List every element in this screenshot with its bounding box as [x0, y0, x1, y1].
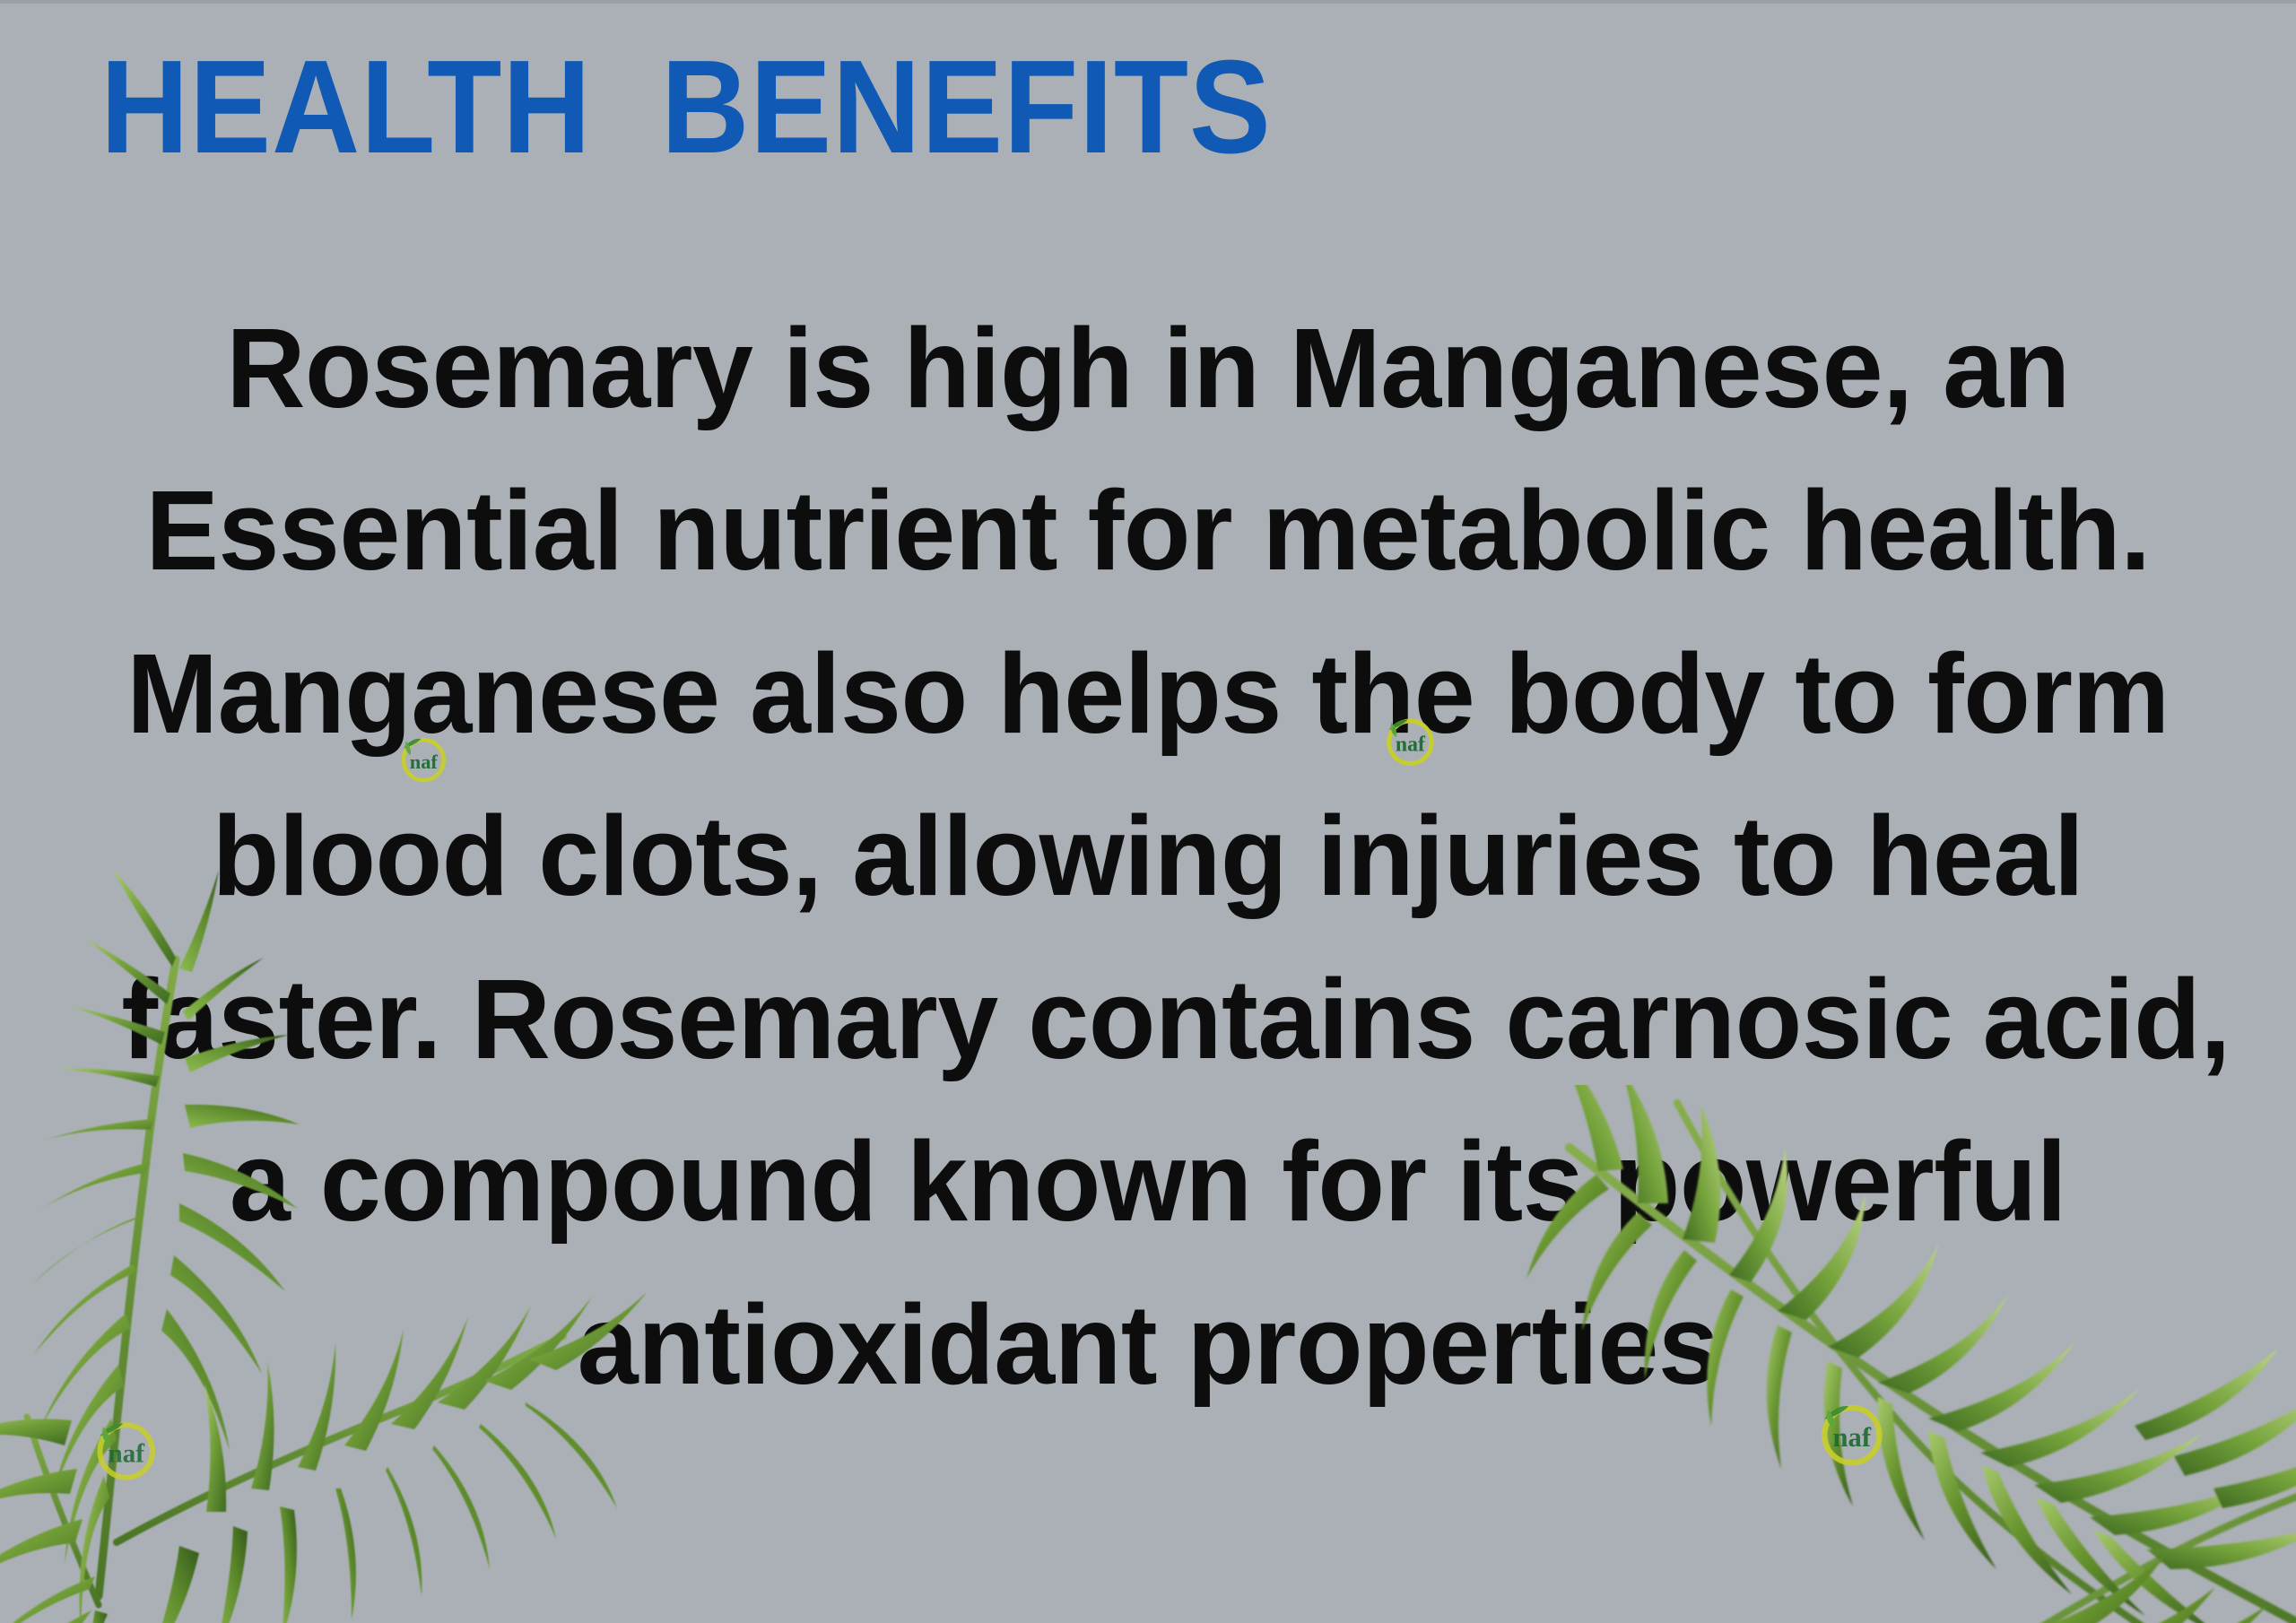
body-line: a compound known for its powerful — [121, 1100, 2174, 1263]
body-line: Manganese also helps the body to form — [121, 612, 2174, 775]
body-paragraph: Rosemary is high in Manganese, an Essent… — [90, 287, 2206, 1426]
body-line: Rosemary is high in Manganese, an — [121, 287, 2174, 449]
body-line: Essential nutrient for metabolic health. — [121, 449, 2174, 612]
slide-canvas: HEALTH BENEFITS Rosemary is high in Mang… — [0, 0, 2296, 1623]
svg-text:naf: naf — [108, 1439, 145, 1468]
page-title: HEALTH BENEFITS — [100, 41, 1272, 174]
body-line: faster. Rosemary contains carnosic acid, — [121, 938, 2174, 1100]
svg-text:naf: naf — [1833, 1422, 1872, 1453]
body-line: blood clots, allowing injuries to heal — [121, 775, 2174, 937]
top-edge-divider — [0, 0, 2296, 4]
body-line: antioxidant properties — [121, 1263, 2174, 1426]
